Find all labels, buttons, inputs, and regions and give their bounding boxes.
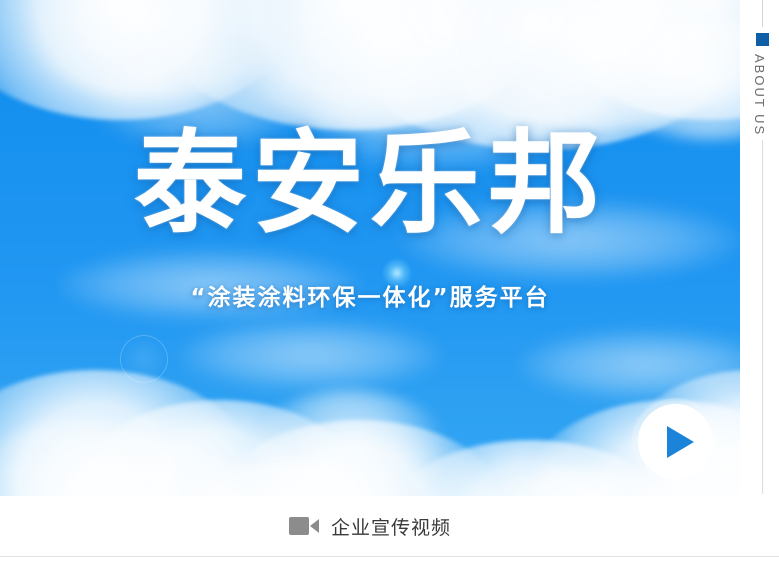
rail-label-about-us[interactable]: ABOUT US [740, 55, 779, 135]
promo-video-player[interactable]: 泰安乐邦 “涂装涂料环保一体化”服务平台 [0, 0, 740, 496]
play-button[interactable] [638, 404, 713, 479]
camera-body [289, 517, 309, 535]
rail-divider-top [762, 0, 763, 27]
rail-label-text: ABOUT US [752, 54, 767, 136]
caption-group: 企业宣传视频 [289, 513, 451, 540]
video-caption-bar: 企业宣传视频 [0, 496, 740, 556]
video-title: 泰安乐邦 [0, 128, 740, 240]
lens-flare-ring [120, 335, 168, 383]
video-subtitle: “涂装涂料环保一体化”服务平台 [0, 278, 740, 312]
video-caption-label: 企业宣传视频 [331, 513, 451, 540]
page-bottom-divider [0, 556, 779, 557]
page-root: 泰安乐邦 “涂装涂料环保一体化”服务平台 企业宣传视频 ABOUT US [0, 0, 779, 562]
play-triangle-icon [667, 426, 694, 458]
rail-marker-square [756, 33, 769, 46]
video-camera-icon [289, 517, 319, 535]
rail-divider-bottom [762, 140, 763, 494]
about-us-side-rail: ABOUT US [740, 0, 779, 496]
camera-lens [310, 519, 319, 533]
